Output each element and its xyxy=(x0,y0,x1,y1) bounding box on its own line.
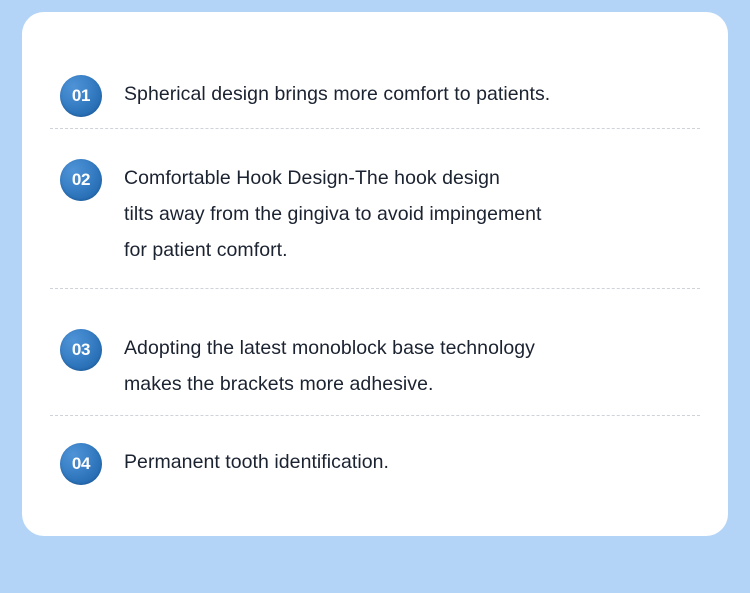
item-divider xyxy=(50,288,700,289)
item-number-badge: 03 xyxy=(60,329,102,371)
list-item: 04 Permanent tooth identification. xyxy=(60,442,708,485)
page-root: 01 Spherical design brings more comfort … xyxy=(0,0,750,593)
item-text: Permanent tooth identification. xyxy=(124,442,389,480)
item-number-badge: 02 xyxy=(60,159,102,201)
item-text: Comfortable Hook Design-The hook design … xyxy=(124,158,542,268)
item-number-badge: 01 xyxy=(60,75,102,117)
item-text: Adopting the latest monoblock base techn… xyxy=(124,328,535,402)
list-item: 02 Comfortable Hook Design-The hook desi… xyxy=(60,158,708,268)
feature-list: 01 Spherical design brings more comfort … xyxy=(22,12,728,536)
feature-card: 01 Spherical design brings more comfort … xyxy=(22,12,728,536)
item-text: Spherical design brings more comfort to … xyxy=(124,74,550,112)
list-item: 03 Adopting the latest monoblock base te… xyxy=(60,328,708,402)
list-item: 01 Spherical design brings more comfort … xyxy=(60,74,708,117)
item-divider xyxy=(50,415,700,416)
item-number-badge: 04 xyxy=(60,443,102,485)
item-divider xyxy=(50,128,700,129)
